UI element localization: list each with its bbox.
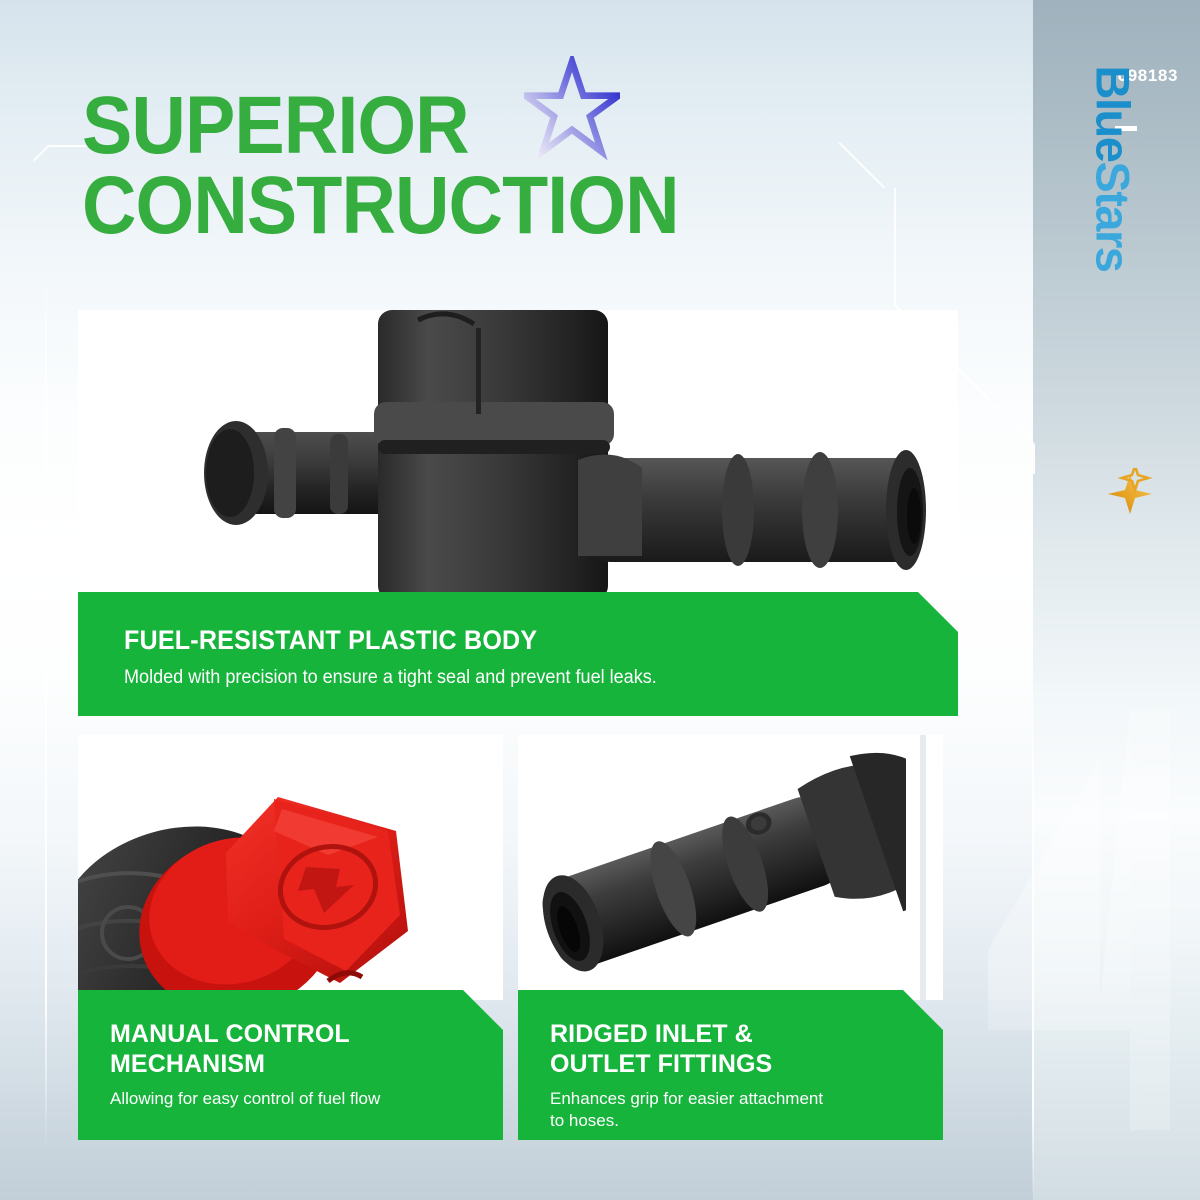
decor-numeral-watermark — [980, 700, 1200, 1130]
sparkle-star-icon — [1106, 468, 1154, 516]
photo-red-manual-lever — [78, 735, 503, 1000]
feature-photo-card-bottom-right — [518, 735, 943, 1000]
feature-subtitle: Molded with precision to ensure a tight … — [124, 666, 916, 690]
decor-vertical-line-right — [1032, 690, 1034, 1200]
decor-diagonal-1 — [839, 142, 886, 189]
brand-logo-blue: Blue — [1087, 66, 1140, 162]
product-feature-infographic: SUPERIOR CONSTRUCTION — [0, 0, 1200, 1200]
feature-subtitle: Enhances grip for easier attachment to h… — [550, 1088, 943, 1132]
star-icon — [524, 56, 620, 160]
brand-logo: BlueStars — [1086, 66, 1141, 366]
photo-ridged-hose-fitting — [518, 735, 943, 1000]
decor-diagonal-4 — [1033, 444, 1035, 474]
feature-banner-top: FUEL-RESISTANT PLASTIC BODY Molded with … — [78, 592, 958, 716]
feature-title: MANUAL CONTROL MECHANISM — [110, 1020, 503, 1079]
brand-logo-stars: Stars — [1087, 161, 1140, 271]
decor-diagonal-5 — [33, 144, 50, 161]
feature-photo-card-bottom-left — [78, 735, 503, 1000]
decor-diagonal-2 — [894, 188, 896, 306]
feature-banner-bottom-right: RIDGED INLET & OUTLET FITTINGS Enhances … — [518, 990, 943, 1140]
feature-banner-bottom-left: MANUAL CONTROL MECHANISM Allowing for ea… — [78, 990, 503, 1140]
feature-title: FUEL-RESISTANT PLASTIC BODY — [124, 626, 900, 656]
feature-photo-card-top — [78, 310, 958, 600]
page-title: SUPERIOR CONSTRUCTION — [82, 86, 818, 247]
feature-subtitle: Allowing for easy control of fuel flow — [110, 1088, 503, 1110]
feature-title: RIDGED INLET & OUTLET FITTINGS — [550, 1020, 943, 1079]
photo-fuel-valve-body — [78, 310, 958, 600]
decor-vertical-line-left — [45, 250, 47, 1150]
